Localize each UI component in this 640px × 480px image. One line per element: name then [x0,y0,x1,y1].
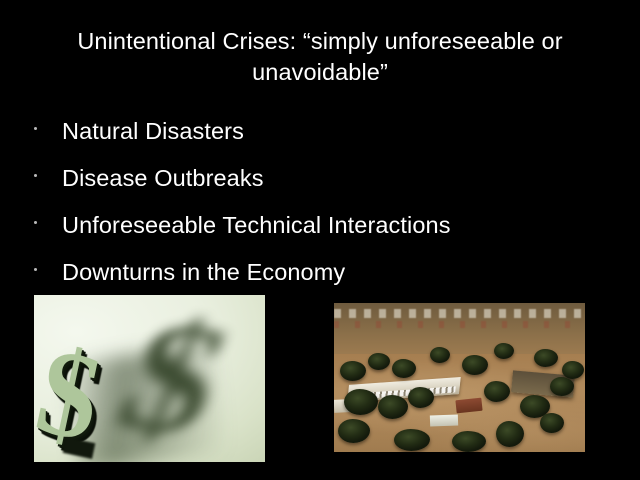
rooftops-row [334,305,585,349]
bullet-dot-icon [34,174,37,177]
small-white-roof [430,415,458,427]
bullet-label-downturns-in-the-economy: Downturns in the Economy [62,255,345,289]
flood-aerial-photo: Aerial view of a flooded town with muddy… [334,303,585,452]
list-item: Disease Outbreaks [30,161,590,208]
bullet-label-unforeseeable-technical-interactions: Unforeseeable Technical Interactions [62,208,451,242]
bullet-dot-icon [34,127,37,130]
dollar-sign-shadow-photo: $ $ Dollar sign casting a long blurred s… [34,295,265,462]
bullet-label-natural-disasters: Natural Disasters [62,114,244,148]
list-item: Unforeseeable Technical Interactions [30,208,590,255]
page-title: Unintentional Crises: “simply unforeseea… [52,26,588,88]
bullet-dot-icon [34,221,37,224]
bullet-list: Natural Disasters Disease Outbreaks Unfo… [30,114,590,302]
presentation-slide: Unintentional Crises: “simply unforeseea… [0,0,640,480]
bullet-dot-icon [34,268,37,271]
red-roof-building [455,398,482,414]
list-item: Natural Disasters [30,114,590,161]
bullet-label-disease-outbreaks: Disease Outbreaks [62,161,264,195]
